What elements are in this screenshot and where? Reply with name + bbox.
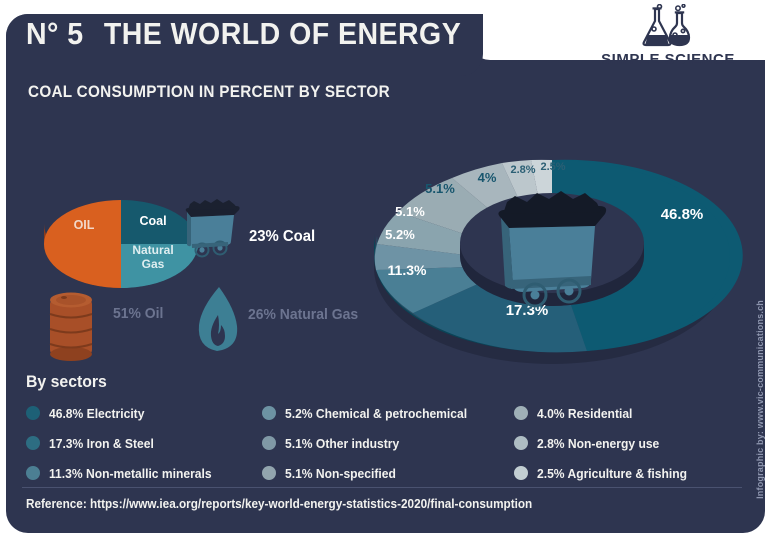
donut-label-agriculture: 2.5% [540,161,565,173]
donut-label-electricity: 46.8% [661,206,704,223]
pie-label-gas-2: Gas [142,257,165,271]
legend-label: 17.3% Iron & Steel [49,436,154,451]
legend-dot-icon [514,436,528,450]
donut-label-nonmetallic: 11.3% [388,262,427,278]
legend-item-non-energy-use[interactable]: 2.8% Non-energy use [514,432,698,454]
legend-dot-icon [26,466,40,480]
legend-item-non-specified[interactable]: 5.1% Non-specified [262,462,481,484]
legend-column-3: 4.0% Residential 2.8% Non-energy use 2.5… [514,402,698,492]
legend-item-other-industry[interactable]: 5.1% Other industry [262,432,481,454]
coal-share-label: 23% Coal [249,228,315,246]
legend-column-1: 46.8% Electricity 17.3% Iron & Steel 11.… [26,402,224,492]
center-coal-cart-icon [483,188,623,318]
legend-item-residential[interactable]: 4.0% Residential [514,402,698,424]
legend-dot-icon [262,466,276,480]
logo-text: SIMPLE SCIENCE [588,51,748,68]
legend-label: 2.5% Agriculture & fishing [537,466,687,481]
donut-label-chemical: 5.2% [385,227,415,242]
legend-label: 4.0% Residential [537,406,632,421]
legend-item-non-metallic-minerals[interactable]: 11.3% Non-metallic minerals [26,462,224,484]
pie-label-coal: Coal [139,214,166,228]
reference-text[interactable]: Reference: https://www.iea.org/reports/k… [26,497,532,511]
oil-barrel-icon [42,288,104,364]
oil-share-label: 51% Oil [113,305,163,322]
legend-item-chemical-petrochemical[interactable]: 5.2% Chemical & petrochemical [262,402,481,424]
page-subtitle: COAL CONSUMPTION IN PERCENT BY SECTOR [28,82,390,102]
title-text: THE WORLD OF ENERGY [104,16,461,51]
donut-label-non-energy: 2.8% [510,164,535,176]
brand-logo: SIMPLE SCIENCE [588,4,748,66]
coal-cart-icon [178,198,248,262]
credit-text[interactable]: Infographic by: www.vic-communications.c… [755,300,765,499]
legend-label: 5.1% Non-specified [285,466,396,481]
gas-flame-icon [192,285,244,357]
legend-item-agriculture-fishing[interactable]: 2.5% Agriculture & fishing [514,462,698,484]
flasks-icon [629,4,707,48]
donut-label-non-specified: 5.1% [425,181,455,196]
legend-item-electricity[interactable]: 46.8% Electricity [26,402,224,424]
footer-divider [22,487,742,488]
legend-item-iron-steel[interactable]: 17.3% Iron & Steel [26,432,224,454]
legend-dot-icon [26,406,40,420]
donut-label-other-industry: 5.1% [395,204,425,219]
legend-label: 5.1% Other industry [285,436,399,451]
legend-label: 11.3% Non-metallic minerals [49,466,212,481]
legend-label: 46.8% Electricity [49,406,144,421]
legend-title: By sectors [26,372,107,392]
legend-column-2: 5.2% Chemical & petrochemical 5.1% Other… [262,402,481,492]
donut-label-residential: 4% [478,170,497,185]
infographic-root: N° 5THE WORLD OF ENERGY COAL CONSUMPTION… [0,0,771,539]
pie-label-gas-1: Natural [132,243,173,257]
legend-dot-icon [262,406,276,420]
page-title: N° 5THE WORLD OF ENERGY [26,16,461,52]
gas-share-label: 26% Natural Gas [248,306,358,323]
pie-label-oil: OIL [74,218,95,232]
legend-dot-icon [26,436,40,450]
legend-label: 5.2% Chemical & petrochemical [285,406,467,421]
legend-dot-icon [514,406,528,420]
legend-dot-icon [514,466,528,480]
legend-label: 2.8% Non-energy use [537,436,659,451]
sector-donut-chart: 46.8% 17.3% 11.3% 5.2% 5.1% 5.1% 4% 2.8%… [355,140,750,372]
issue-number: N° 5 [26,16,84,51]
legend-dot-icon [262,436,276,450]
